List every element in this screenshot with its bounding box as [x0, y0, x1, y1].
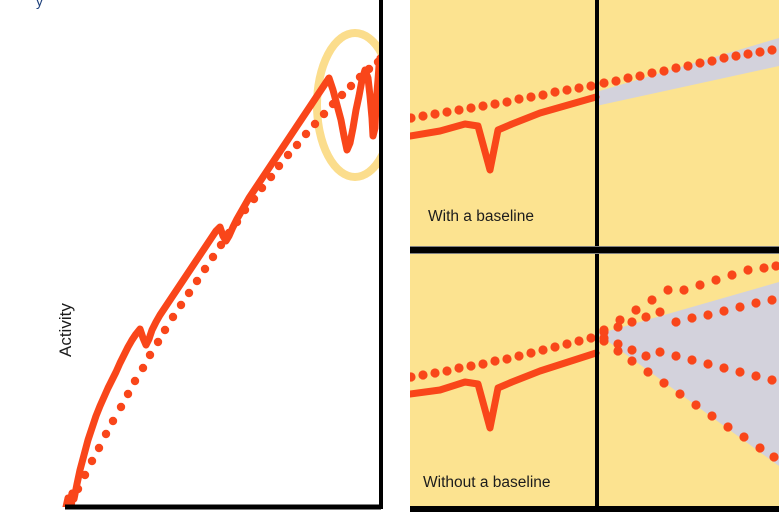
- without-baseline-panel: Without a baseline: [406, 254, 779, 507]
- y-axis-label: Activity: [56, 303, 75, 357]
- with-baseline-panel: With a baseline: [406, 0, 779, 246]
- main-plot-group: [0, 0, 393, 507]
- without-baseline-label: Without a baseline: [423, 474, 551, 491]
- figure-svg: Activity y: [0, 0, 779, 515]
- figure-canvas: Activity y: [0, 0, 779, 515]
- clipped-top-text: y: [36, 0, 43, 9]
- with-baseline-label: With a baseline: [428, 208, 534, 225]
